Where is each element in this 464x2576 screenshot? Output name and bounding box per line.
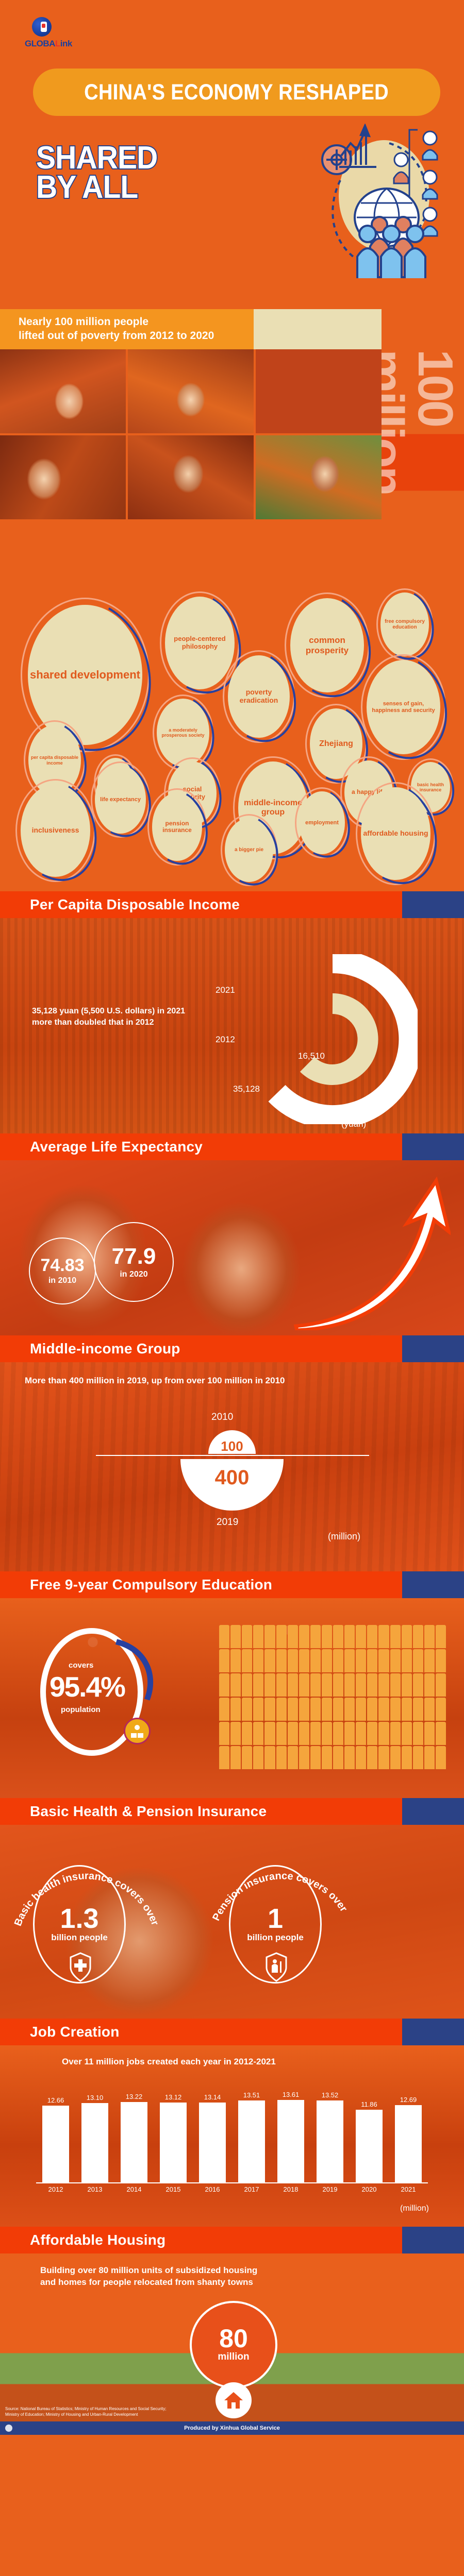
middle-income-unit: (million): [328, 1531, 360, 1542]
person-pictogram: [299, 1649, 309, 1672]
chart-bar: [238, 2100, 265, 2182]
life-expectancy-2020-value: 77.9: [112, 1245, 156, 1268]
person-pictogram: [253, 1722, 263, 1745]
section-title: Middle-income Group: [0, 1341, 180, 1357]
person-pictogram: [253, 1673, 263, 1697]
person-pictogram: [413, 1625, 423, 1648]
person-pictogram: [333, 1673, 343, 1697]
housing-unit: million: [218, 2351, 249, 2363]
hero-section: GLOBALink CHINA'S ECONOMY RESHAPED SHARE…: [0, 0, 464, 309]
section-title: Average Life Expectancy: [0, 1139, 203, 1155]
person-pictogram: [344, 1649, 355, 1672]
education-pictogram-grid: [219, 1625, 446, 1769]
poverty-line-1: Nearly 100 million people: [19, 315, 390, 329]
chart-bar-value: 12.66: [41, 2096, 71, 2104]
chart-bar: [42, 2106, 69, 2182]
person-pictogram: [367, 1673, 377, 1697]
person-pictogram: [390, 1698, 401, 1721]
pension-insurance-unit: billion people: [247, 1933, 304, 1943]
person-pictogram: [424, 1746, 435, 1769]
chart-bar: [356, 2110, 383, 2182]
page-title: CHINA'S ECONOMY RESHAPED: [85, 80, 389, 105]
poverty-banner-text: Nearly 100 million people lifted out of …: [19, 315, 390, 343]
header-accent-block: [402, 1571, 464, 1598]
section-header-job-creation: Job Creation: [0, 2019, 464, 2045]
chart-x-tick: 2016: [193, 2185, 232, 2193]
job-creation-unit: (million): [400, 2204, 429, 2213]
person-pictogram: [367, 1746, 377, 1769]
xinhua-logo-icon: [4, 2423, 25, 2433]
person-pictogram: [322, 1673, 332, 1697]
keyword-bubble-cloud: shared development people-centered philo…: [0, 551, 464, 891]
education-covers-label: covers: [69, 1661, 93, 1670]
middle-income-note: More than 400 million in 2019, up from o…: [25, 1376, 285, 1386]
section-header-insurance: Basic Health & Pension Insurance: [0, 1798, 464, 1825]
person-pictogram: [378, 1698, 389, 1721]
chart-bar-value: 12.69: [393, 2096, 423, 2104]
person-pictogram: [299, 1625, 309, 1648]
person-pictogram: [378, 1673, 389, 1697]
hero-illustration: [278, 124, 449, 278]
person-pictogram: [310, 1673, 321, 1697]
bubble-life-expectancy: life expectancy: [91, 761, 150, 838]
person-pictogram: [333, 1698, 343, 1721]
person-pictogram: [367, 1722, 377, 1745]
person-pictogram: [378, 1649, 389, 1672]
person-pictogram: [402, 1722, 412, 1745]
chart-bar: [395, 2105, 422, 2182]
section-header-middle-income: Middle-income Group: [0, 1335, 464, 1362]
logo-text-part-c: ink: [60, 39, 72, 48]
person-pictogram: [288, 1698, 298, 1721]
person-pictogram: [402, 1649, 412, 1672]
person-pictogram: [356, 1649, 366, 1672]
life-expectancy-2010: 74.83 in 2010: [29, 1238, 96, 1304]
bubble-pension-insurance: pension insurance: [147, 788, 207, 866]
person-pictogram: [219, 1673, 229, 1697]
headline-line-1: SHARED: [36, 143, 157, 173]
person-pictogram: [264, 1625, 275, 1648]
bubble-inclusiveness: inclusiveness: [15, 779, 95, 882]
person-pictogram: [219, 1722, 229, 1745]
person-pictogram: [402, 1673, 412, 1697]
life-expectancy-2010-value: 74.83: [40, 1257, 84, 1274]
per-capita-panel: 35,128 yuan (5,500 U.S. dollars) in 2021…: [0, 918, 464, 1133]
chart-x-axis: [36, 2182, 428, 2183]
per-capita-note: 35,128 yuan (5,500 U.S. dollars) in 2021…: [32, 1006, 185, 1028]
person-pictogram: [333, 1649, 343, 1672]
person-pictogram: [402, 1625, 412, 1648]
person-pictogram: [288, 1625, 298, 1648]
person-pictogram: [322, 1625, 332, 1648]
person-pictogram: [288, 1746, 298, 1769]
middle-income-bar-2019: 400: [180, 1459, 284, 1511]
hero-title-pill: CHINA'S ECONOMY RESHAPED: [33, 69, 440, 116]
person-pictogram: [242, 1673, 252, 1697]
housing-note-line1: Building over 80 million units of subsid…: [40, 2265, 257, 2277]
person-pictogram: [242, 1722, 252, 1745]
person-pictogram: [310, 1722, 321, 1745]
person-pictogram: [253, 1625, 263, 1648]
chart-x-tick: 2015: [154, 2185, 193, 2193]
person-pictogram: [356, 1746, 366, 1769]
chart-x-tick: 2012: [36, 2185, 75, 2193]
poverty-photo-grid: [0, 349, 382, 519]
person-pictogram: [356, 1722, 366, 1745]
person-pictogram: [402, 1698, 412, 1721]
person-pictogram: [436, 1746, 446, 1769]
person-pictogram: [276, 1649, 287, 1672]
person-pictogram: [436, 1673, 446, 1697]
person-pictogram: [242, 1625, 252, 1648]
chart-x-tick: 2019: [310, 2185, 350, 2193]
housing-panel: Building over 80 million units of subsid…: [0, 2253, 464, 2435]
chart-bar-value: 13.14: [197, 2093, 227, 2101]
footer-bar: Produced by Xinhua Global Service: [0, 2421, 464, 2435]
photo-thumb: [128, 349, 254, 433]
middle-income-value-2019: 400: [215, 1459, 250, 1489]
person-pictogram: [413, 1698, 423, 1721]
chart-bar: [277, 2100, 304, 2182]
section-header-per-capita: Per Capita Disposable Income: [0, 891, 464, 918]
person-pictogram: [424, 1625, 435, 1648]
bubble-affordable-housing: affordable housing: [356, 782, 436, 885]
person-pictogram: [436, 1698, 446, 1721]
person-pictogram: [378, 1722, 389, 1745]
person-pictogram: [424, 1722, 435, 1745]
header-accent-block: [402, 2227, 464, 2253]
per-capita-value-2012: 16,510: [298, 1051, 325, 1061]
source-line-1: Source: National Bureau of Statistics; M…: [5, 2406, 167, 2412]
header-accent-block: [402, 2019, 464, 2045]
chart-x-tick: 2020: [350, 2185, 389, 2193]
person-pictogram: [333, 1722, 343, 1745]
person-pictogram: [253, 1698, 263, 1721]
medical-cross-icon: [69, 1952, 92, 1982]
middle-income-value-2010: 100: [221, 1439, 243, 1454]
hero-headline: SHARED BY ALL: [36, 143, 168, 202]
life-expectancy-2010-label: in 2010: [48, 1276, 76, 1285]
person-pictogram: [230, 1722, 241, 1745]
person-pictogram: [436, 1649, 446, 1672]
bubble-poverty-eradication: poverty eradication: [223, 650, 295, 743]
person-pictogram: [288, 1722, 298, 1745]
person-pictogram: [276, 1722, 287, 1745]
person-pictogram: [219, 1649, 229, 1672]
chart-bar-value: 13.52: [315, 2091, 345, 2099]
house-icon-badge: [216, 2382, 252, 2418]
photo-thumb: [0, 349, 126, 433]
person-pictogram: [264, 1673, 275, 1697]
photo-thumb: [256, 435, 382, 519]
job-creation-bar-chart: 12.6613.1013.2213.1213.1413.5113.6113.52…: [36, 2081, 428, 2182]
person-pictogram: [230, 1649, 241, 1672]
housing-value: 80: [219, 2327, 248, 2351]
section-header-housing: Affordable Housing: [0, 2227, 464, 2253]
health-insurance-circle: 1.3 billion people: [33, 1865, 126, 1984]
section-header-life-expectancy: Average Life Expectancy: [0, 1133, 464, 1160]
house-icon: [223, 2389, 244, 2411]
person-pictogram: [310, 1649, 321, 1672]
chart-x-tick: 2017: [232, 2185, 271, 2193]
person-pictogram: [390, 1746, 401, 1769]
header-accent-block: [402, 1335, 464, 1362]
chart-bar: [317, 2100, 343, 2182]
person-pictogram: [219, 1746, 229, 1769]
person-pictogram: [402, 1746, 412, 1769]
person-pictogram: [333, 1625, 343, 1648]
housing-value-circle: 80 million: [190, 2301, 277, 2388]
person-pictogram: [276, 1625, 287, 1648]
person-pictogram: [413, 1722, 423, 1745]
bubble-senses-of-gain: senses of gain, happiness and security: [361, 654, 446, 760]
person-pictogram: [424, 1673, 435, 1697]
person-pictogram: [356, 1698, 366, 1721]
person-pictogram: [413, 1746, 423, 1769]
person-pictogram: [413, 1649, 423, 1672]
per-capita-note-line2: more than doubled that in 2012: [32, 1017, 185, 1028]
person-pictogram: [367, 1649, 377, 1672]
photo-thumb: [0, 435, 126, 519]
per-capita-value-2021: 35,128: [233, 1084, 260, 1094]
source-credits: Source: National Bureau of Statistics; M…: [5, 2406, 167, 2417]
growth-arrow-icon: [286, 1176, 451, 1330]
person-pictogram: [288, 1673, 298, 1697]
person-pictogram: [436, 1625, 446, 1648]
section-header-education: Free 9-year Compulsory Education: [0, 1571, 464, 1598]
per-capita-unit: (yuan): [341, 1119, 366, 1129]
person-pictogram: [390, 1722, 401, 1745]
per-capita-year-2012: 2012: [216, 1035, 235, 1045]
middle-income-bar-2010: 100: [208, 1430, 256, 1454]
middle-income-panel: More than 400 million in 2019, up from o…: [0, 1362, 464, 1571]
person-pictogram: [288, 1649, 298, 1672]
person-pictogram: [378, 1746, 389, 1769]
person-pictogram: [322, 1722, 332, 1745]
person-pictogram: [344, 1625, 355, 1648]
header-accent-block: [402, 1133, 464, 1160]
section-title: Job Creation: [0, 2024, 120, 2040]
education-percent: 95.4%: [49, 1670, 125, 1703]
logo-text-part-a: GLOBA: [25, 39, 55, 48]
person-pictogram: [264, 1649, 275, 1672]
logo-text-part-b: L: [55, 39, 60, 48]
person-pictogram: [322, 1698, 332, 1721]
person-pictogram: [322, 1746, 332, 1769]
person-pictogram: [299, 1746, 309, 1769]
poverty-reduction-section: Nearly 100 million people lifted out of …: [0, 309, 464, 551]
globalink-logo-text: GLOBALink: [25, 39, 81, 49]
person-pictogram: [253, 1649, 263, 1672]
elderly-person-shield-icon: [264, 1952, 288, 1982]
life-expectancy-2020: 77.9 in 2020: [94, 1222, 174, 1302]
header-accent-block: [402, 1798, 464, 1825]
life-expectancy-panel: 74.83 in 2010 77.9 in 2020: [0, 1160, 464, 1335]
per-capita-note-line1: 35,128 yuan (5,500 U.S. dollars) in 2021: [32, 1006, 185, 1017]
poverty-line-2: lifted out of poverty from 2012 to 2020: [19, 329, 390, 343]
chart-x-tick-labels: 2012201320142015201620172018201920202021: [36, 2185, 428, 2193]
person-pictogram: [424, 1649, 435, 1672]
housing-note: Building over 80 million units of subsid…: [40, 2265, 257, 2289]
person-pictogram: [219, 1698, 229, 1721]
person-pictogram: [264, 1722, 275, 1745]
chart-bar: [160, 2103, 187, 2182]
headline-line-2: BY ALL: [36, 173, 157, 202]
person-pictogram: [253, 1746, 263, 1769]
globalink-logo: GLOBALink: [25, 17, 81, 49]
infographic-page: GLOBALink CHINA'S ECONOMY RESHAPED SHARE…: [0, 0, 464, 2576]
person-pictogram: [436, 1722, 446, 1745]
pension-insurance-circle: 1 billion people: [229, 1865, 322, 1984]
person-pictogram: [378, 1625, 389, 1648]
person-pictogram: [242, 1746, 252, 1769]
job-creation-note: Over 11 million jobs created each year i…: [62, 2057, 276, 2067]
poverty-big-number: 100 million: [382, 349, 460, 551]
person-pictogram: [230, 1698, 241, 1721]
person-pictogram: [242, 1649, 252, 1672]
per-capita-donut-chart: 2021 2012 35,128 16,510 (yuan): [247, 954, 418, 1124]
person-pictogram: [356, 1625, 366, 1648]
health-insurance-value: 1.3: [60, 1906, 98, 1932]
section-title: Affordable Housing: [0, 2232, 165, 2248]
housing-note-line2: and homes for people relocated from shan…: [40, 2277, 257, 2289]
chart-bar-value: 13.22: [119, 2093, 149, 2100]
chart-x-tick: 2018: [271, 2185, 310, 2193]
person-pictogram: [333, 1746, 343, 1769]
person-pictogram: [390, 1625, 401, 1648]
education-panel: covers 95.4% population: [0, 1598, 464, 1798]
person-pictogram: [299, 1698, 309, 1721]
person-pictogram: [230, 1673, 241, 1697]
person-pictogram: [367, 1625, 377, 1648]
education-population-label: population: [61, 1705, 101, 1714]
middle-income-baseline: [96, 1455, 369, 1456]
photo-thumb: [256, 349, 382, 433]
middle-income-year-2019: 2019: [217, 1517, 238, 1528]
person-pictogram: [424, 1698, 435, 1721]
person-pictogram: [367, 1698, 377, 1721]
photo-thumb: [128, 435, 254, 519]
person-pictogram: [344, 1746, 355, 1769]
source-line-2: Ministry of Education; Ministry of Housi…: [5, 2412, 167, 2417]
person-pictogram: [242, 1698, 252, 1721]
chart-bar: [199, 2103, 226, 2182]
person-pictogram: [230, 1746, 241, 1769]
pension-insurance-value: 1: [268, 1906, 283, 1932]
chart-bar-value: 13.51: [237, 2091, 267, 2099]
person-pictogram: [264, 1698, 275, 1721]
person-pictogram: [390, 1649, 401, 1672]
person-pictogram: [310, 1698, 321, 1721]
job-creation-panel: Over 11 million jobs created each year i…: [0, 2045, 464, 2227]
section-title: Per Capita Disposable Income: [0, 896, 240, 913]
life-expectancy-2020-label: in 2020: [120, 1270, 147, 1279]
person-pictogram: [310, 1625, 321, 1648]
chart-bar: [81, 2103, 108, 2182]
person-pictogram: [356, 1673, 366, 1697]
person-pictogram: [322, 1649, 332, 1672]
person-pictogram: [344, 1673, 355, 1697]
chart-bar-value: 13.12: [158, 2093, 188, 2101]
student-reading-icon: [124, 1718, 151, 1744]
health-insurance-unit: billion people: [51, 1933, 108, 1943]
chart-bar: [121, 2102, 147, 2182]
section-title: Free 9-year Compulsory Education: [0, 1577, 272, 1593]
person-pictogram: [276, 1746, 287, 1769]
person-pictogram: [344, 1698, 355, 1721]
person-pictogram: [219, 1625, 229, 1648]
chart-bar-value: 13.61: [276, 2091, 306, 2098]
header-accent-block: [402, 891, 464, 918]
bubble-free-compulsory-education: free compulsory education: [376, 588, 433, 660]
chart-x-tick: 2014: [114, 2185, 154, 2193]
person-pictogram: [390, 1673, 401, 1697]
person-pictogram: [264, 1746, 275, 1769]
person-pictogram: [299, 1722, 309, 1745]
per-capita-year-2021: 2021: [216, 985, 235, 995]
middle-income-year-2010: 2010: [211, 1412, 233, 1423]
insurance-panel: Basic health insurance covers over 1.3 b…: [0, 1825, 464, 2019]
bubble-common-prosperity: common prosperity: [285, 592, 370, 698]
section-title: Basic Health & Pension Insurance: [0, 1803, 267, 1820]
globalink-logo-icon: [32, 17, 52, 37]
bubble-a-bigger-pie: a bigger pie: [221, 814, 277, 886]
bubble-employment: employment: [295, 787, 349, 858]
person-pictogram: [276, 1673, 287, 1697]
person-pictogram: [310, 1746, 321, 1769]
chart-x-tick: 2021: [389, 2185, 428, 2193]
produced-by-label: Produced by Xinhua Global Service: [184, 2425, 280, 2431]
person-pictogram: [413, 1673, 423, 1697]
person-pictogram: [276, 1698, 287, 1721]
person-pictogram: [299, 1673, 309, 1697]
chart-bar-value: 13.10: [80, 2094, 110, 2102]
person-pictogram: [344, 1722, 355, 1745]
chart-bar-value: 11.86: [354, 2100, 384, 2108]
person-pictogram: [230, 1625, 241, 1648]
chart-x-tick: 2013: [75, 2185, 114, 2193]
